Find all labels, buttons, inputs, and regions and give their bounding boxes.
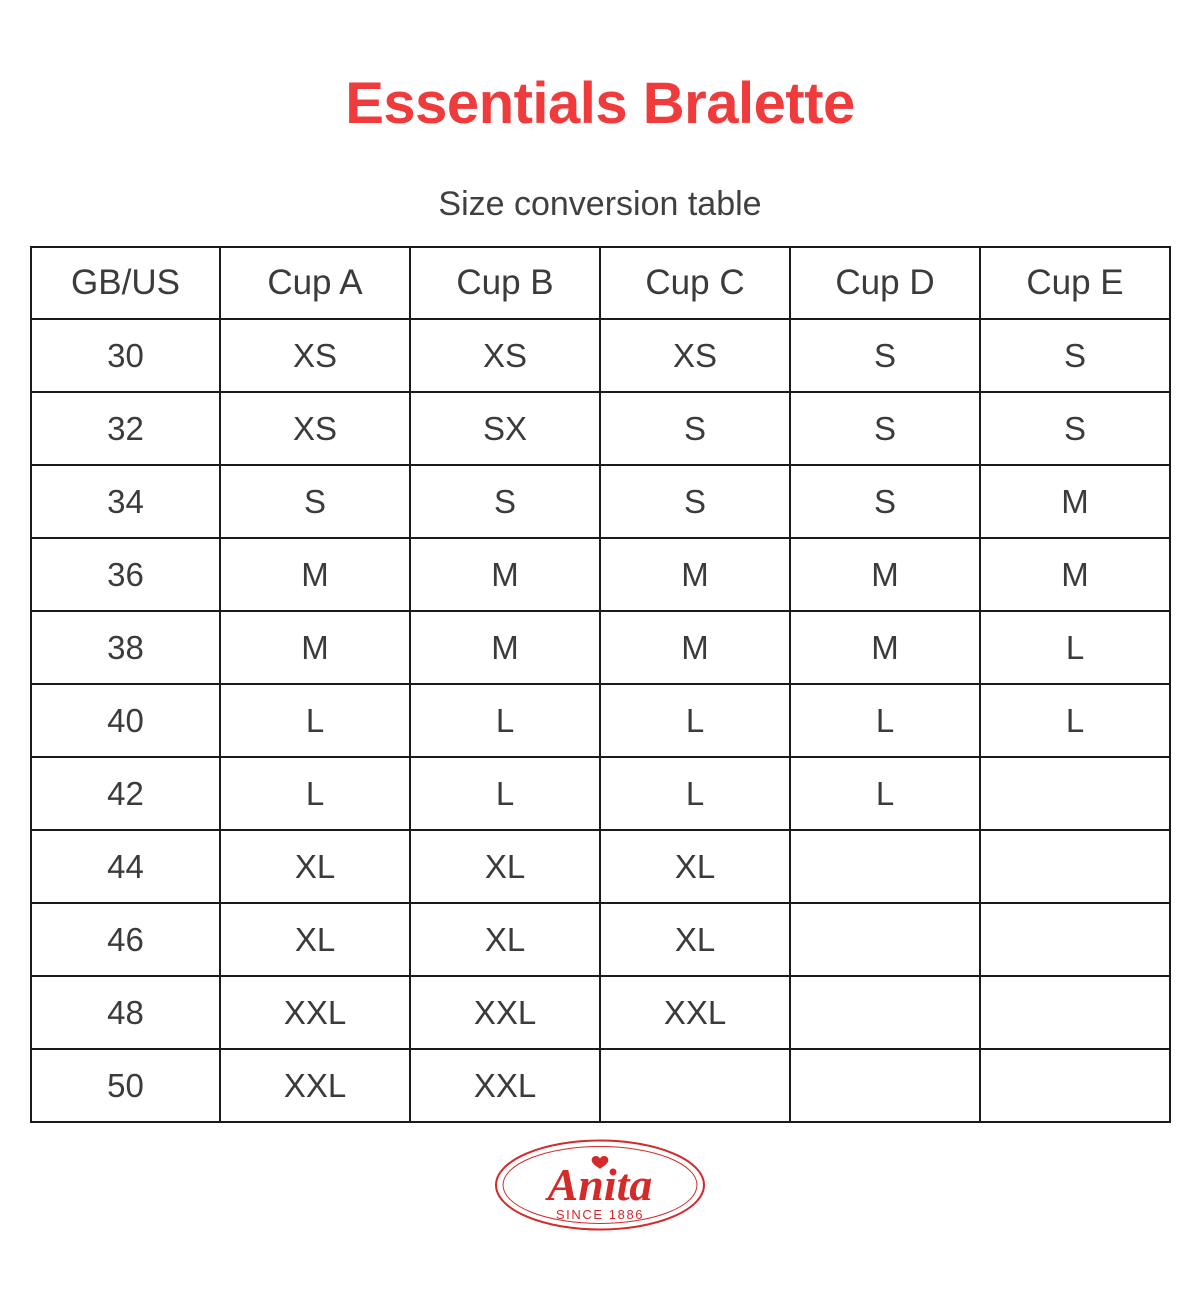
cell-size: M [790,611,980,684]
cell-size: S [600,392,790,465]
column-header-cup-d: Cup D [790,247,980,319]
cell-size: S [410,465,600,538]
table-body: 30XSXSXSSS32XSSXSSS34SSSSM36MMMMM38MMMML… [31,319,1170,1122]
table-row: 32XSSXSSS [31,392,1170,465]
column-header-cup-e: Cup E [980,247,1170,319]
table-row: 46XLXLXL [31,903,1170,976]
cell-gbus: 42 [31,757,220,830]
table-header: GB/US Cup A Cup B Cup C Cup D Cup E [31,247,1170,319]
cell-size: L [220,757,410,830]
cell-size: XXL [410,1049,600,1122]
column-header-cup-c: Cup C [600,247,790,319]
cell-size: S [600,465,790,538]
cell-size: S [980,319,1170,392]
anita-logo-svg: Anita SINCE 1886 [493,1137,707,1233]
table-row: 50XXLXXL [31,1049,1170,1122]
cell-size: XXL [600,976,790,1049]
cell-size: L [600,757,790,830]
table-row: 48XXLXXLXXL [31,976,1170,1049]
cell-size: XS [600,319,790,392]
cell-size: L [790,757,980,830]
cell-size: M [790,538,980,611]
cell-gbus: 50 [31,1049,220,1122]
cell-size: L [410,757,600,830]
table-row: 44XLXLXL [31,830,1170,903]
cell-gbus: 32 [31,392,220,465]
anita-logo: Anita SINCE 1886 [493,1137,707,1233]
cell-size: L [220,684,410,757]
cell-size: SX [410,392,600,465]
cell-size: M [410,611,600,684]
table-row: 34SSSSM [31,465,1170,538]
cell-size: M [980,538,1170,611]
cell-gbus: 34 [31,465,220,538]
cell-gbus: 40 [31,684,220,757]
size-conversion-table: GB/US Cup A Cup B Cup C Cup D Cup E 30XS… [30,246,1171,1123]
cell-size [790,830,980,903]
cell-size: XS [220,392,410,465]
column-header-gbus: GB/US [31,247,220,319]
cell-size [790,903,980,976]
cell-size: L [980,684,1170,757]
cell-size [980,830,1170,903]
page-title: Essentials Bralette [0,74,1200,135]
cell-size: S [220,465,410,538]
logo-tagline-text: SINCE 1886 [556,1207,644,1222]
cell-size [790,1049,980,1122]
cell-gbus: 38 [31,611,220,684]
cell-size [980,757,1170,830]
cell-gbus: 46 [31,903,220,976]
logo-brand-text: Anita [545,1159,653,1210]
cell-size [600,1049,790,1122]
cell-size: XXL [220,1049,410,1122]
cell-size: M [410,538,600,611]
cell-size [980,1049,1170,1122]
cell-size: S [790,392,980,465]
page-subtitle: Size conversion table [0,185,1200,224]
table-row: 40LLLLL [31,684,1170,757]
cell-size: L [410,684,600,757]
cell-gbus: 30 [31,319,220,392]
size-conversion-table-container: GB/US Cup A Cup B Cup C Cup D Cup E 30XS… [30,246,1169,1123]
cell-size: XL [220,903,410,976]
cell-size: XL [410,903,600,976]
column-header-cup-a: Cup A [220,247,410,319]
cell-size: L [980,611,1170,684]
cell-size: XXL [410,976,600,1049]
cell-size: S [790,319,980,392]
cell-size: XXL [220,976,410,1049]
cell-size: XL [600,830,790,903]
cell-size: L [600,684,790,757]
cell-size: XL [410,830,600,903]
cell-size [980,903,1170,976]
table-row: 38MMMML [31,611,1170,684]
cell-gbus: 44 [31,830,220,903]
cell-size [980,976,1170,1049]
table-header-row: GB/US Cup A Cup B Cup C Cup D Cup E [31,247,1170,319]
cell-size: XL [220,830,410,903]
cell-size: XS [410,319,600,392]
cell-gbus: 36 [31,538,220,611]
cell-size: M [600,538,790,611]
cell-size: M [220,611,410,684]
cell-size: M [600,611,790,684]
cell-gbus: 48 [31,976,220,1049]
cell-size: S [980,392,1170,465]
cell-size: M [980,465,1170,538]
cell-size: M [220,538,410,611]
table-row: 30XSXSXSSS [31,319,1170,392]
cell-size [790,976,980,1049]
table-row: 42LLLL [31,757,1170,830]
cell-size: XS [220,319,410,392]
cell-size: L [790,684,980,757]
cell-size: XL [600,903,790,976]
column-header-cup-b: Cup B [410,247,600,319]
table-row: 36MMMMM [31,538,1170,611]
size-chart-page: Essentials Bralette Size conversion tabl… [0,0,1200,1300]
cell-size: S [790,465,980,538]
